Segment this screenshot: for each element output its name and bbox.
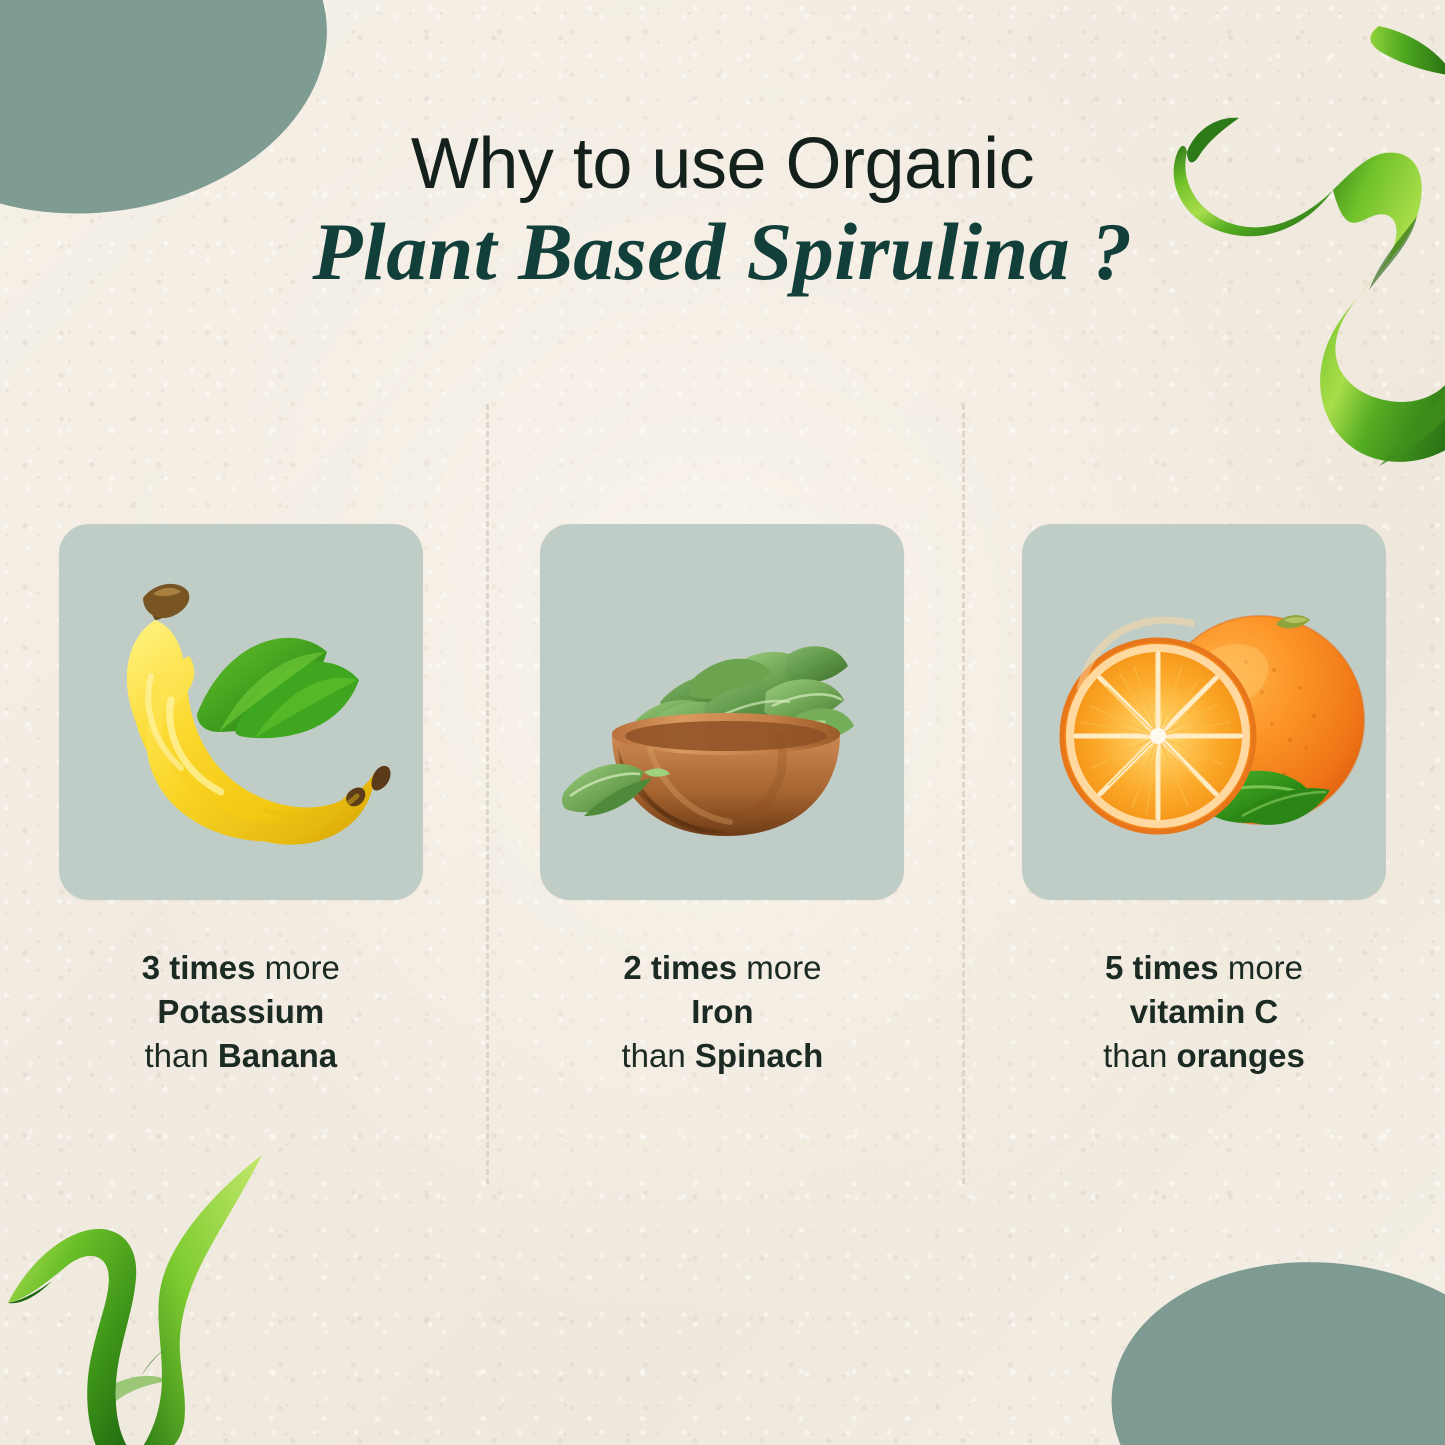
bananas-photo-tile xyxy=(59,524,423,900)
oranges-photo xyxy=(1022,524,1386,900)
caption-line-2: Potassium xyxy=(142,990,340,1034)
caption-iron: 2 times more Iron than Spinach xyxy=(622,946,824,1079)
caption-bold-3: Banana xyxy=(218,1037,337,1074)
caption-bold-1: 5 times xyxy=(1105,949,1219,986)
spinach-bowl-photo xyxy=(540,524,904,900)
caption-line-3: than Banana xyxy=(142,1034,340,1078)
page-title: Why to use Organic Plant Based Spirulina… xyxy=(0,128,1445,296)
oranges-photo-tile xyxy=(1022,524,1386,900)
caption-line-1: 3 times more xyxy=(142,946,340,990)
caption-bold-2: vitamin C xyxy=(1130,993,1279,1030)
heading-line-1: Why to use Organic xyxy=(0,128,1445,201)
caption-potassium: 3 times more Potassium than Banana xyxy=(142,946,340,1079)
caption-line-2: Iron xyxy=(622,990,824,1034)
caption-rest-3: than xyxy=(622,1037,695,1074)
caption-line-3: than Spinach xyxy=(622,1034,824,1078)
caption-bold-3: Spinach xyxy=(695,1037,823,1074)
spinach-photo-tile xyxy=(540,524,904,900)
caption-line-2: vitamin C xyxy=(1103,990,1305,1034)
caption-bold-1: 2 times xyxy=(623,949,737,986)
infographic-poster: Why to use Organic Plant Based Spirulina… xyxy=(0,0,1445,1445)
caption-rest-1: more xyxy=(255,949,339,986)
caption-rest-3: than xyxy=(1103,1037,1176,1074)
caption-bold-3: oranges xyxy=(1177,1037,1305,1074)
caption-line-3: than oranges xyxy=(1103,1034,1305,1078)
heading-line-2: Plant Based Spirulina ? xyxy=(0,209,1445,295)
bananas-photo xyxy=(59,524,423,900)
caption-bold-1: 3 times xyxy=(142,949,256,986)
caption-vitamin-c: 5 times more vitamin C than oranges xyxy=(1103,946,1305,1079)
comparison-column-potassium: 3 times more Potassium than Banana xyxy=(0,404,482,1184)
caption-line-1: 5 times more xyxy=(1103,946,1305,990)
caption-rest-1: more xyxy=(737,949,821,986)
caption-rest-3: than xyxy=(144,1037,217,1074)
caption-rest-1: more xyxy=(1219,949,1303,986)
caption-line-1: 2 times more xyxy=(622,946,824,990)
comparison-column-iron: 2 times more Iron than Spinach xyxy=(482,404,964,1184)
comparison-column-vitamin-c: 5 times more vitamin C than oranges xyxy=(963,404,1445,1184)
comparison-columns: 3 times more Potassium than Banana xyxy=(0,404,1445,1184)
caption-bold-2: Iron xyxy=(691,993,753,1030)
caption-bold-2: Potassium xyxy=(157,993,324,1030)
